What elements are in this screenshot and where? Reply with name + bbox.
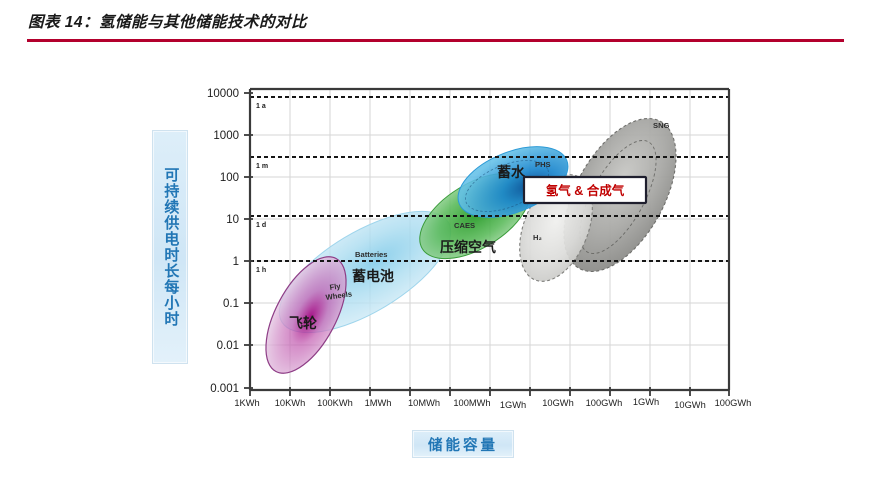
y-tick-label-7: 0.001 <box>210 383 239 395</box>
y-tick-label-2: 100 <box>220 172 239 184</box>
x-tick-label-4: 10MWh <box>408 398 440 408</box>
region-label-caes-cn: 压缩空气 <box>440 239 496 255</box>
y-tick-label-0: 10000 <box>207 88 239 100</box>
chart-plot-area: 1 a 1 m 1 d 1 h Fly Wheels 飞轮 Batteries … <box>0 0 871 495</box>
reference-label-1a: 1 a <box>256 103 266 110</box>
hydrogen-callout-label: 氢气 & 合成气 <box>546 183 625 198</box>
x-tick-label-8: 100GWh <box>586 398 623 408</box>
x-tick-label-9: 1GWh <box>633 397 659 407</box>
x-tick-label-10: 10GWh <box>674 400 706 410</box>
reference-label-1d: 1 d <box>256 222 266 229</box>
region-label-batteries-en: Batteries <box>355 250 388 259</box>
region-label-sng-en: SNG <box>653 121 670 130</box>
y-tick-label-6: 0.01 <box>217 340 239 352</box>
figure-page: 图表 14：氢储能与其他储能技术的对比 可持续供电时长每小时 储能容量 <box>0 0 871 495</box>
region-label-flywheels-cn: 飞轮 <box>289 315 317 331</box>
region-label-phs-cn: 蓄水 <box>497 164 526 180</box>
y-tick-label-3: 10 <box>226 214 239 226</box>
region-label-hydrogen-en: H₂ <box>533 233 542 242</box>
region-label-caes-en: CAES <box>454 221 475 230</box>
x-tick-label-2: 100KWh <box>317 398 353 408</box>
x-tick-label-1: 10KWh <box>275 398 306 408</box>
region-label-batteries-cn: 蓄电池 <box>352 268 394 284</box>
y-tick-label-5: 0.1 <box>223 298 239 310</box>
y-tick-label-1: 1000 <box>213 130 239 142</box>
x-tick-label-3: 1MWh <box>365 398 392 408</box>
reference-label-1m: 1 m <box>256 163 268 170</box>
y-tick-label-4: 1 <box>233 256 239 268</box>
x-tick-label-11: 100GWh <box>715 398 752 408</box>
x-tick-label-0: 1KWh <box>234 398 259 408</box>
region-label-phs-en: PHS <box>535 160 551 169</box>
x-tick-label-7: 10GWh <box>542 398 574 408</box>
x-tick-label-5: 100MWh <box>453 398 490 408</box>
hydrogen-callout: 氢气 & 合成气 <box>524 177 646 203</box>
reference-label-1h: 1 h <box>256 267 266 274</box>
x-tick-label-6: 1GWh <box>500 400 526 410</box>
